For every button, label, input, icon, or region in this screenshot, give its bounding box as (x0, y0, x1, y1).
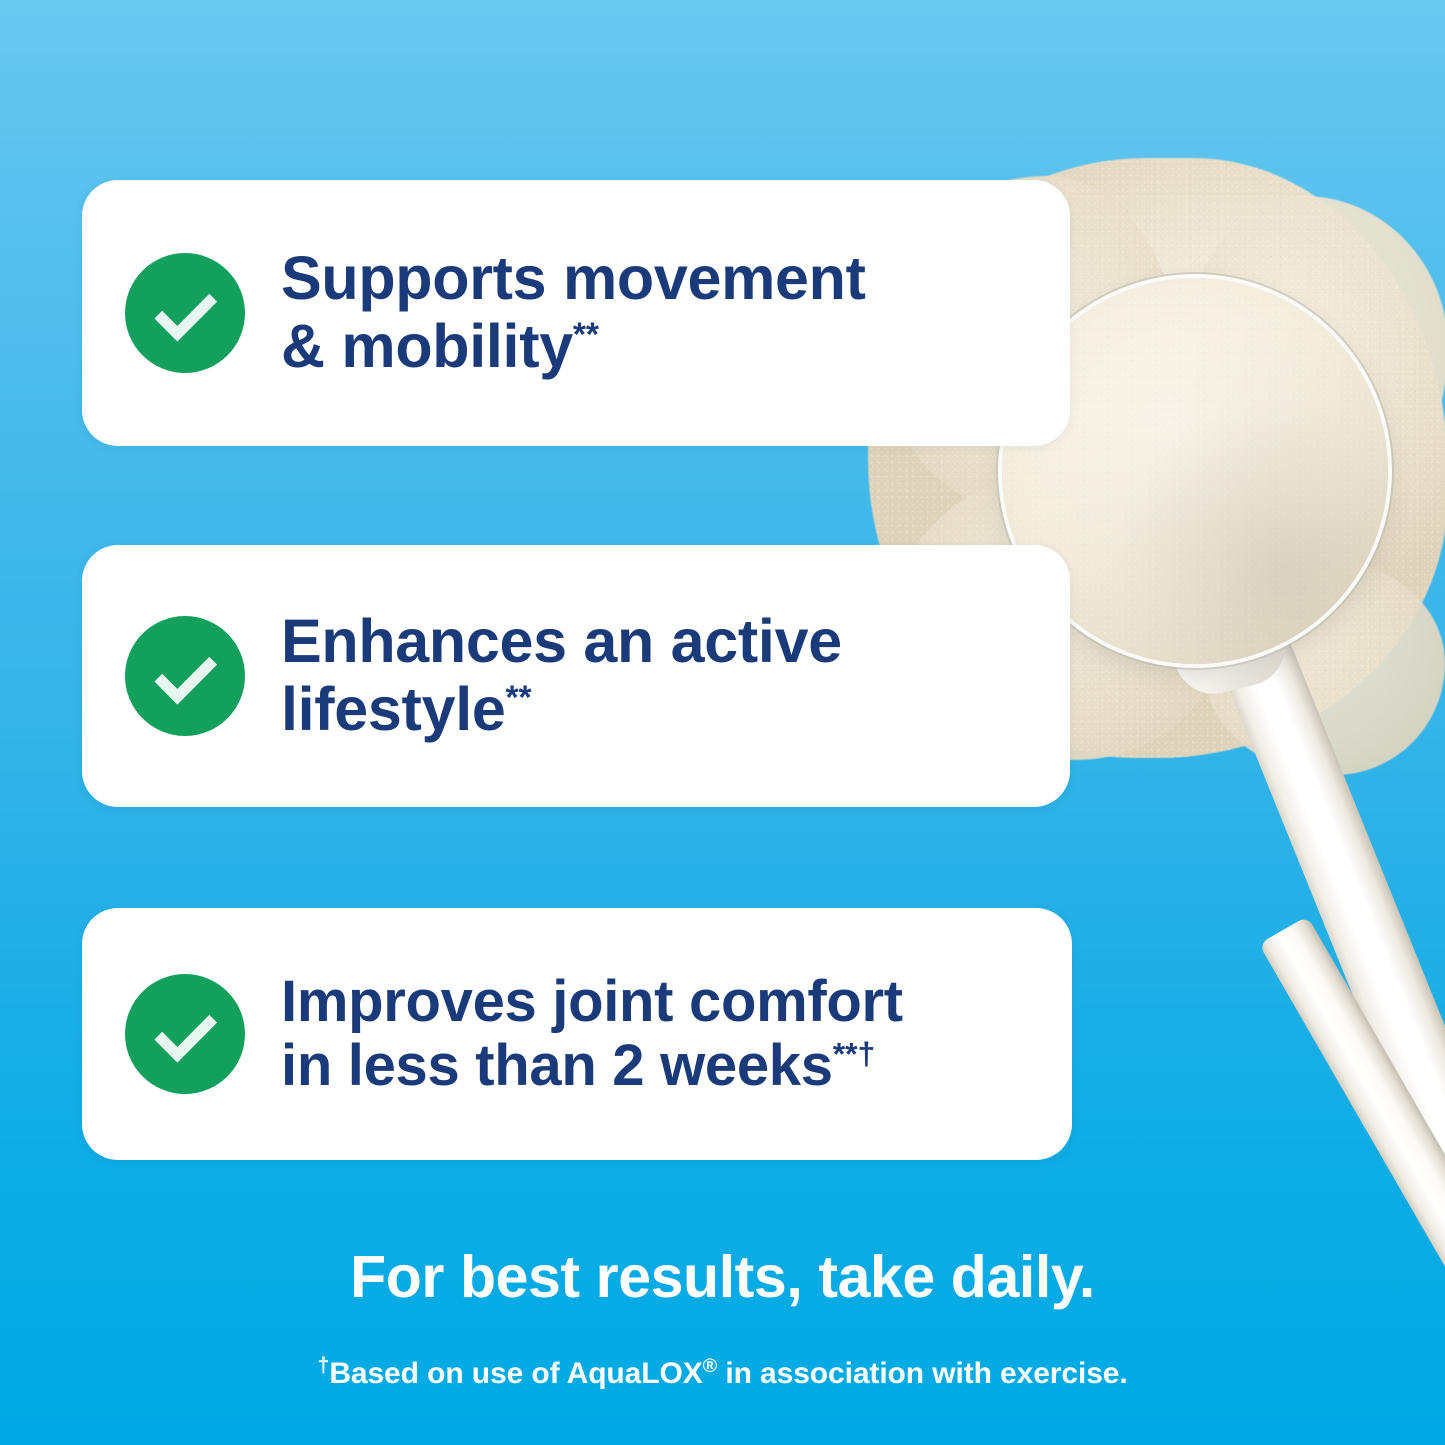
disclaimer-text-after: in association with exercise. (717, 1357, 1128, 1390)
disclaimer: †Based on use of AquaLOX® in association… (0, 1357, 1445, 1391)
disclaimer-dagger: † (317, 1352, 329, 1377)
disclaimer-text-before: Based on use of AquaLOX (329, 1357, 702, 1390)
benefit-1-line-1: Supports movement (281, 244, 866, 312)
powder-lump-lower-right (1205, 560, 1445, 775)
benefit-card-2-text: Enhances an active lifestyle** (281, 608, 842, 743)
scoop-handle-lower (1259, 916, 1445, 1394)
benefit-card-1-text: Supports movement & mobility** (281, 245, 866, 380)
scoop-neck (1163, 586, 1294, 702)
benefit-card-3-text: Improves joint comfort in less than 2 we… (281, 970, 903, 1099)
benefit-card-1: Supports movement & mobility** (82, 180, 1070, 446)
benefit-2-line-1: Enhances an active (281, 607, 842, 675)
registered-trademark-icon: ® (703, 1355, 717, 1377)
benefit-2-line-2: lifestyle (281, 675, 505, 743)
benefit-1-footnote-marker: ** (573, 317, 599, 354)
product-benefits-graphic: Supports movement & mobility** Enhances … (0, 0, 1445, 1445)
tagline: For best results, take daily. (0, 1243, 1445, 1311)
benefit-card-3: Improves joint comfort in less than 2 we… (82, 908, 1072, 1160)
check-circle-icon (125, 616, 245, 736)
benefit-1-line-2: & mobility (281, 312, 573, 380)
benefit-2-footnote-marker: ** (505, 680, 531, 717)
benefit-3-footnote-marker: **† (833, 1036, 876, 1072)
benefit-card-2: Enhances an active lifestyle** (82, 545, 1070, 807)
powder-lump-upper-right (1180, 196, 1445, 526)
check-circle-icon (125, 974, 245, 1094)
scoop-handle-upper (1199, 586, 1445, 1263)
benefit-3-line-2: in less than 2 weeks (281, 1033, 833, 1098)
benefit-3-line-1: Improves joint comfort (281, 969, 903, 1034)
check-circle-icon (125, 253, 245, 373)
